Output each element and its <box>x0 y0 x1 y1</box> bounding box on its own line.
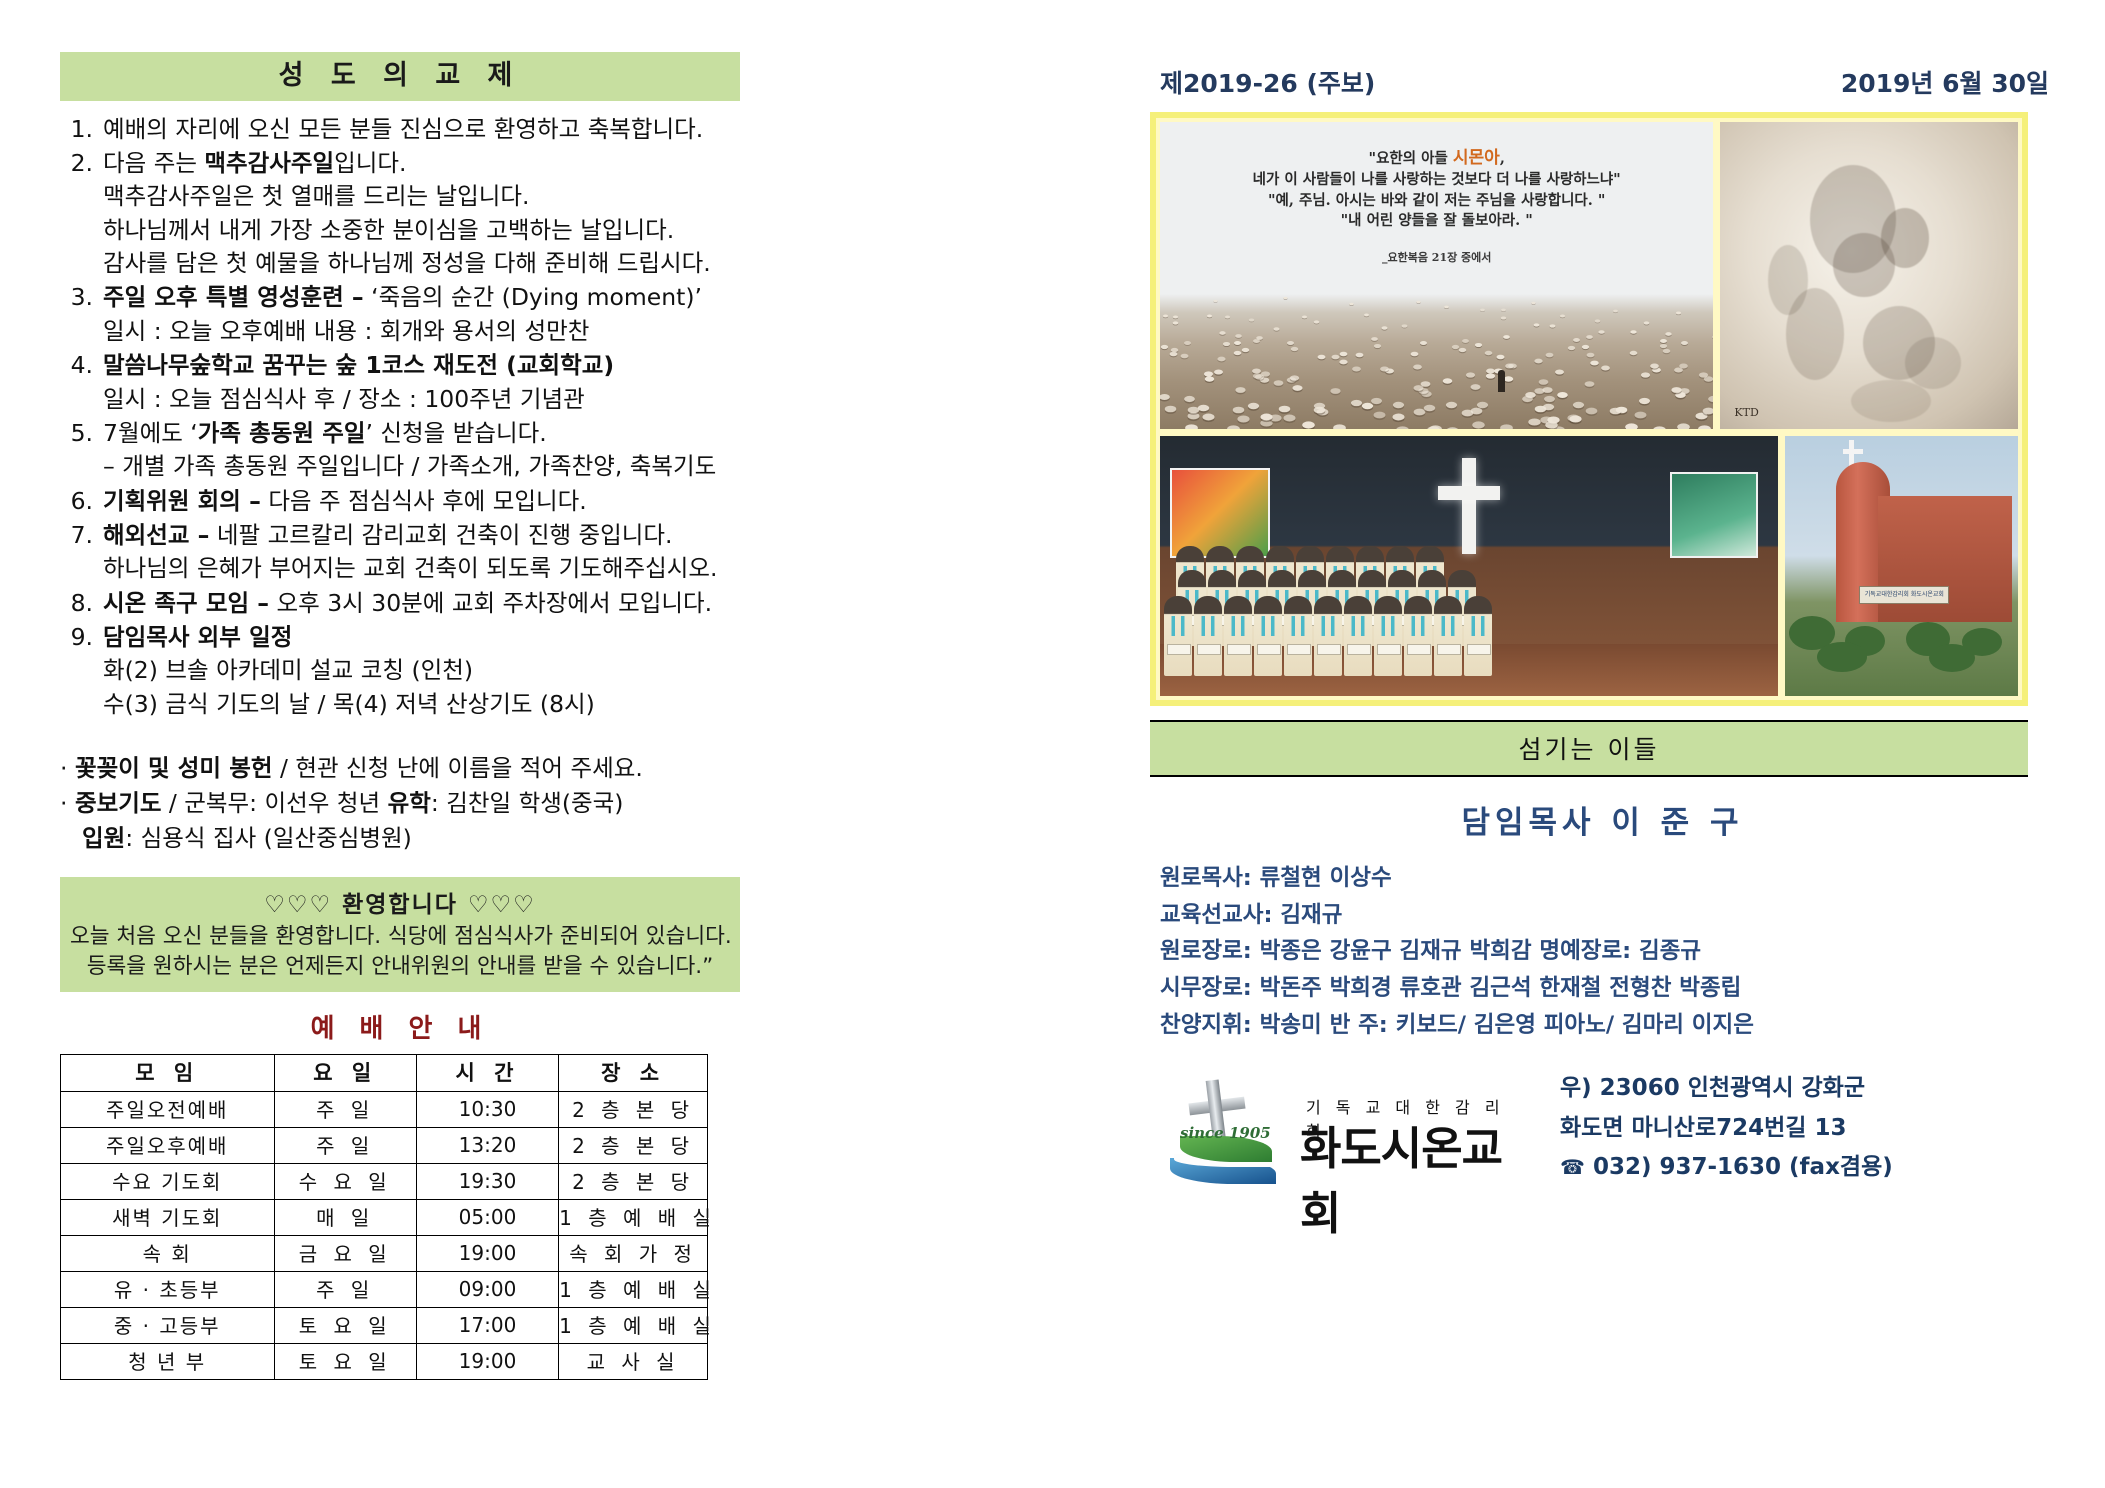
bush-shape <box>1817 642 1867 672</box>
sheep-shape <box>1213 299 1217 301</box>
announcement-main-line: 2.다음 주는 맥추감사주일입니다. <box>60 147 740 180</box>
sheep-shape <box>1235 334 1242 338</box>
sheep-shape <box>1188 406 1200 413</box>
sheep-shape <box>1249 318 1254 321</box>
right-page: 제2019-26 (주보) 2019년 6월 30일 "요한의 아들 시몬아, … <box>1150 52 2055 1192</box>
sheep-shape <box>1160 345 1167 349</box>
choir-robe-stole <box>1344 616 1372 636</box>
staff-names: 박종은 강윤구 김재규 박희감 명예장로: 김종규 <box>1260 938 1701 964</box>
sheep-shape <box>1643 321 1649 324</box>
sheep-shape <box>1317 354 1325 359</box>
sheep-shape <box>1550 325 1556 328</box>
table-column-header: 시 간 <box>416 1054 558 1091</box>
sheep-shape <box>1413 365 1422 370</box>
sheep-shape <box>1484 351 1492 355</box>
announcement-text-emphasis: 시온 족구 모임 – <box>103 589 269 617</box>
sheep-shape <box>1595 320 1601 323</box>
choir-photo <box>1160 436 1778 696</box>
announcement-text: 7월에도 ‘가족 총동원 주일’ 신청을 받습니다. <box>103 417 740 450</box>
announcement-sub-line: 수(3) 금식 기도의 날 / 목(4) 저녁 산상기도 (8시) <box>60 688 740 721</box>
sheep-shape <box>1181 354 1189 359</box>
choir-member <box>1164 596 1192 676</box>
sheep-shape <box>1653 426 1666 429</box>
sheep-shape <box>1590 361 1598 366</box>
sheep-shape <box>1198 405 1209 412</box>
staff-row: 원로장로: 박종은 강윤구 김재규 박희감 명예장로: 김종규 <box>1160 933 2055 970</box>
choir-robe-stole <box>1254 616 1282 636</box>
prayer-line-offering: · 꽃꽂이 및 성미 봉헌 / 현관 신청 난에 이름을 적어 주세요. <box>60 751 740 785</box>
hospital-detail: : 심용식 집사 (일산중심병원) <box>125 824 411 852</box>
choir-member <box>1224 596 1252 676</box>
choir-robe-stole <box>1434 616 1462 636</box>
sheep-shape <box>1424 405 1435 412</box>
announcement-sub-line: 일시 : 오늘 오후예배 내용 : 회개와 용서의 성만찬 <box>60 315 740 348</box>
verse-photo-sheep-flock: "요한의 아들 시몬아, 네가 이 사람들이 나를 사랑하는 것보다 더 나를 … <box>1160 122 1713 429</box>
cross-icon-vertical <box>1462 458 1476 554</box>
sheep-shape <box>1625 423 1638 429</box>
sheep-shape <box>1446 402 1457 408</box>
welcome-title: ♡♡♡ 환영합니다 ♡♡♡ <box>70 885 730 919</box>
sheep-shape <box>1402 325 1408 328</box>
table-row: 중 · 고등부토 요 일17:001 층 예 배 실 <box>61 1307 708 1343</box>
sheep-shape <box>1601 365 1610 370</box>
sheep-shape <box>1207 315 1212 318</box>
sheep-shape <box>1314 406 1325 413</box>
announcement-number: 9. <box>60 621 103 654</box>
announcement-number: 5. <box>60 417 103 450</box>
table-column-header: 장 소 <box>559 1054 708 1091</box>
meeting-name: 속 회 <box>61 1235 275 1271</box>
announcement-item: 3.주일 오후 특별 영성훈련 – ‘죽음의 순간 (Dying moment)… <box>60 281 740 348</box>
meeting-day: 금 요 일 <box>274 1235 416 1271</box>
sheep-shape <box>1234 350 1242 354</box>
announcement-text: 다음 주는 맥추감사주일입니다. <box>103 147 740 180</box>
meeting-day: 주 일 <box>274 1091 416 1127</box>
announcement-text-emphasis: 가족 총동원 주일 <box>198 419 366 447</box>
sheep-shape <box>1501 317 1506 320</box>
staff-row: 원로목사: 류철현 이상수 <box>1160 860 2055 897</box>
sheep-shape <box>1462 339 1469 343</box>
choir-robe-stole <box>1224 616 1252 636</box>
sheep-shape <box>1223 342 1230 346</box>
sheep-shape <box>1459 348 1466 352</box>
sketch-stroke <box>1833 233 1895 297</box>
welcome-box: ♡♡♡ 환영합니다 ♡♡♡ 오늘 처음 오신 분들을 환영합니다. 식당에 점심… <box>60 877 740 991</box>
table-row: 주일오후예배주 일13:202 층 본 당 <box>61 1127 708 1163</box>
sheep-shape <box>1287 341 1294 345</box>
meeting-name: 새벽 기도회 <box>61 1199 275 1235</box>
photo-row-top: "요한의 아들 시몬아, 네가 이 사람들이 나를 사랑하는 것보다 더 나를 … <box>1160 122 2018 429</box>
offering-label: 꽃꽂이 및 성미 봉헌 <box>75 754 273 782</box>
announcement-text: 예배의 자리에 오신 모든 분들 진심으로 환영하고 축복합니다. <box>103 113 740 146</box>
sketch-stroke <box>1768 245 1808 315</box>
announcement-sub-line: 하나님께서 내게 가장 소중한 분이심을 고백하는 날입니다. <box>60 214 740 247</box>
meeting-time: 19:30 <box>416 1163 558 1199</box>
sheep-shape <box>1535 405 1546 412</box>
sheep-shape <box>1635 412 1647 419</box>
sheep-shape <box>1545 421 1558 428</box>
meeting-day: 수 요 일 <box>274 1163 416 1199</box>
sheep-shape <box>1416 301 1420 303</box>
address-line-2: 화도면 마니산로724번길 13 <box>1560 1109 1893 1149</box>
phone-icon: ☎ <box>1560 1150 1585 1184</box>
sheep-shape <box>1712 335 1713 339</box>
sheep-shape <box>1568 345 1575 349</box>
bush-shape <box>1929 644 1975 672</box>
choir-robe-stole <box>1284 616 1312 636</box>
announcement-item: 8.시온 족구 모임 – 오후 3시 30분에 교회 주차장에서 모입니다. <box>60 587 740 620</box>
sheep-shape <box>1253 339 1260 343</box>
sketch-photo-shepherd-with-lamb: KTD <box>1720 122 2018 429</box>
sheep-shape <box>1698 426 1711 429</box>
sheep-shape <box>1225 315 1230 318</box>
sheep-shape <box>1236 387 1246 393</box>
sheep-shape <box>1413 409 1425 416</box>
sheep-shape <box>1486 373 1495 378</box>
verse-line-3: "예, 주님. 아시는 바와 같이 저는 주님을 사랑합니다. " <box>1160 191 1713 212</box>
intercession-study: : 김찬일 학생(중국) <box>431 789 624 817</box>
sheep-shape <box>1284 414 1296 421</box>
meeting-place: 2 층 본 당 <box>559 1163 708 1199</box>
sheep-shape <box>1466 372 1475 377</box>
announcement-item: 6.기획위원 회의 – 다음 주 점심식사 후에 모입니다. <box>60 485 740 518</box>
choir-robe-stole <box>1374 616 1402 636</box>
staff-row: 교육선교사: 김재규 <box>1160 897 2055 934</box>
meeting-day: 주 일 <box>274 1271 416 1307</box>
staff-names: 박돈주 박희경 류호관 김근석 한재철 전형찬 박종립 <box>1260 975 1742 1001</box>
sheep-shape <box>1472 422 1485 429</box>
announcement-text-emphasis: 기획위원 회의 – <box>103 487 261 515</box>
announcement-text: 기획위원 회의 – 다음 주 점심식사 후에 모입니다. <box>103 485 740 518</box>
sheep-shape <box>1557 392 1568 398</box>
announcement-text-emphasis: 담임목사 외부 일정 <box>103 623 292 651</box>
meeting-place: 속 회 가 정 <box>559 1235 708 1271</box>
logo-since-text: since 1905 <box>1180 1124 1271 1142</box>
sheep-shape <box>1639 397 1650 403</box>
table-header-row: 모 임요 일시 간장 소 <box>61 1054 708 1091</box>
meeting-time: 17:00 <box>416 1307 558 1343</box>
verse-line-4: "내 어린 양들을 잘 돌보아라. " <box>1160 211 1713 232</box>
staff-names: 박송미 반 주: 키보드/ 김은영 피아노/ 김마리 이지은 <box>1260 1012 1754 1038</box>
sheep-shape <box>1349 303 1353 306</box>
welcome-line-2: 등록을 원하시는 분은 언제든지 안내위원의 안내를 받을 수 있습니다.” <box>70 952 730 981</box>
announcement-item: 5.7월에도 ‘가족 총동원 주일’ 신청을 받습니다.– 개별 가족 총동원 … <box>60 417 740 484</box>
sheep-shape <box>1302 422 1315 429</box>
verse-line-2: 네가 이 사람들이 나를 사랑하는 것보다 더 나를 사랑하느냐" <box>1160 170 1713 191</box>
sheep-shape <box>1475 343 1482 347</box>
sheep-shape <box>1333 424 1346 429</box>
sheep-shape <box>1545 353 1553 357</box>
sheep-shape <box>1586 335 1593 339</box>
meeting-place: 2 층 본 당 <box>559 1091 708 1127</box>
announcement-text-tail: 다음 주 점심식사 후에 모입니다. <box>261 487 587 515</box>
sheep-shape <box>1497 355 1505 360</box>
church-address: 우) 23060 인천광역시 강화군 화도면 마니산로724번길 13 ☎ 03… <box>1534 1069 1893 1192</box>
meeting-time: 19:00 <box>416 1235 558 1271</box>
sheep-shape <box>1248 403 1259 409</box>
worship-schedule-table: 모 임요 일시 간장 소 주일오전예배주 일10:302 층 본 당주일오후예배… <box>60 1054 708 1380</box>
staff-role: 찬양지휘: <box>1160 1012 1260 1038</box>
announcement-text-emphasis: 해외선교 – <box>103 521 209 549</box>
sheep-shape <box>1462 409 1474 416</box>
sheep-shape <box>1364 314 1369 317</box>
verse-highlight-simon: 시몬아 <box>1453 148 1500 168</box>
meeting-name: 주일오전예배 <box>61 1091 275 1127</box>
shepherd-figure <box>1498 370 1505 392</box>
verse-line-1: "요한의 아들 시몬아, <box>1160 146 1713 170</box>
sheep-shape <box>1477 401 1488 407</box>
cross-icon-horizontal <box>1438 486 1500 500</box>
sheep-shape <box>1187 412 1199 419</box>
intercession-military: / 군복무: 이선우 청년 <box>161 789 387 817</box>
sheep-shape <box>1290 347 1297 351</box>
meeting-place: 1 층 예 배 실 <box>559 1271 708 1307</box>
sheep-shape <box>1373 412 1385 419</box>
announcement-text: 주일 오후 특별 영성훈련 – ‘죽음의 순간 (Dying moment)’ <box>103 281 740 314</box>
prayer-requests-block: · 꽃꽂이 및 성미 봉헌 / 현관 신청 난에 이름을 적어 주세요. · 중… <box>60 751 740 855</box>
sheep-shape <box>1681 341 1688 345</box>
sheep-shape <box>1219 332 1225 336</box>
sheep-shape <box>1480 308 1485 311</box>
sheep-shape <box>1374 344 1381 348</box>
announcement-text: 담임목사 외부 일정 <box>103 621 740 654</box>
sheep-shape <box>1163 315 1168 318</box>
sheep-shape <box>1164 406 1175 413</box>
verse-line-1a: "요한의 아들 <box>1369 150 1453 167</box>
issue-date: 2019년 6월 30일 <box>1841 64 2049 100</box>
sheep-shape <box>1677 423 1690 429</box>
sheep-shape <box>1610 407 1622 414</box>
fellowship-section-banner: 성 도 의 교 제 <box>60 52 740 101</box>
meeting-day: 주 일 <box>274 1127 416 1163</box>
meeting-time: 05:00 <box>416 1199 558 1235</box>
sketch-stroke <box>1905 337 1961 389</box>
sheep-shape <box>1660 339 1667 343</box>
sheep-shape <box>1534 323 1540 326</box>
sheep-shape <box>1371 398 1382 404</box>
sheep-shape <box>1279 406 1290 413</box>
steeple-cross-horizontal <box>1843 449 1863 454</box>
announcement-text-tail: ’ 신청을 받습니다. <box>365 419 546 447</box>
sheep-shape <box>1470 384 1480 390</box>
sheep-shape <box>1629 351 1637 355</box>
announcement-number: 7. <box>60 519 103 552</box>
meeting-name: 수요 기도회 <box>61 1163 275 1199</box>
sheep-shape <box>1392 414 1404 421</box>
sheep-shape <box>1393 402 1404 408</box>
sheep-shape <box>1420 341 1427 345</box>
table-row: 주일오전예배주 일10:302 층 본 당 <box>61 1091 708 1127</box>
announcement-main-line: 3.주일 오후 특별 영성훈련 – ‘죽음의 순간 (Dying moment)… <box>60 281 740 314</box>
sheep-shape <box>1313 321 1319 324</box>
announcement-sub-line: 일시 : 오늘 점심식사 후 / 장소 : 100주년 기념관 <box>60 383 740 416</box>
sheep-shape <box>1283 297 1287 299</box>
verse-reference: _요한복음 21장 중에서 <box>1160 250 1713 266</box>
announcement-item: 4.말씀나무숲학교 꿈꾸는 숲 1코스 재도전 (교회학교)일시 : 오늘 점심… <box>60 349 740 416</box>
sheep-shape <box>1560 315 1565 318</box>
choir-banner-right <box>1670 472 1758 558</box>
sheep-shape <box>1544 396 1555 402</box>
sheep-shape <box>1355 353 1363 357</box>
announcement-main-line: 8.시온 족구 모임 – 오후 3시 30분에 교회 주차장에서 모입니다. <box>60 587 740 620</box>
sheep-shape <box>1598 331 1604 335</box>
announcement-main-line: 4.말씀나무숲학교 꿈꾸는 숲 1코스 재도전 (교회학교) <box>60 349 740 382</box>
church-building-photo: 기독교대한감리회 화도시온교회 <box>1785 436 2018 696</box>
sheep-shape <box>1203 414 1215 421</box>
serving-members-banner: 섬기는 이들 <box>1150 720 2028 777</box>
left-page: 성 도 의 교 제 1.예배의 자리에 오신 모든 분들 진심으로 환영하고 축… <box>60 52 740 1380</box>
meeting-day: 매 일 <box>274 1199 416 1235</box>
footer: since 1905 기 독 교 대 한 감 리 회 화도시온교회 우) 230… <box>1150 1069 2055 1192</box>
sheep-shape <box>1587 353 1595 357</box>
announcement-text-tail: ‘죽음의 순간 (Dying moment)’ <box>364 283 702 311</box>
choir-member <box>1434 596 1462 676</box>
meeting-name: 청 년 부 <box>61 1343 275 1379</box>
sheep-shape <box>1703 408 1714 415</box>
announcement-item: 1.예배의 자리에 오신 모든 분들 진심으로 환영하고 축복합니다. <box>60 113 740 146</box>
sheep-shape <box>1381 326 1387 329</box>
announcement-sub-line: 화(2) 브솔 아카데미 설교 코칭 (인천) <box>60 654 740 687</box>
table-row: 유 · 초등부주 일09:001 층 예 배 실 <box>61 1271 708 1307</box>
meeting-name: 유 · 초등부 <box>61 1271 275 1307</box>
senior-pastor-name: 담임목사 이 준 구 <box>1150 797 2055 842</box>
sheep-shape <box>1242 347 1249 351</box>
staff-role: 교육선교사: <box>1160 902 1280 928</box>
announcement-text-plain: 7월에도 ‘ <box>103 419 198 447</box>
choir-member <box>1254 596 1282 676</box>
table-row: 수요 기도회수 요 일19:302 층 본 당 <box>61 1163 708 1199</box>
announcement-item: 9.담임목사 외부 일정화(2) 브솔 아카데미 설교 코칭 (인천)수(3) … <box>60 621 740 721</box>
church-logo: since 1905 기 독 교 대 한 감 리 회 화도시온교회 <box>1154 1076 1534 1186</box>
sheep-shape <box>1630 331 1636 335</box>
sheep-shape <box>1532 301 1536 303</box>
sheep-shape <box>1452 345 1459 349</box>
sheep-shape <box>1302 315 1307 318</box>
choir-robe-stole <box>1164 616 1192 636</box>
sheep-shape <box>1708 396 1713 402</box>
sheep-shape <box>1582 345 1589 349</box>
announcement-number: 2. <box>60 147 103 180</box>
choir-robe-stole <box>1464 616 1492 636</box>
logo-mark: since 1905 <box>1162 1078 1278 1182</box>
meeting-time: 09:00 <box>416 1271 558 1307</box>
meeting-name: 주일오후예배 <box>61 1127 275 1163</box>
staff-role: 원로목사: <box>1160 865 1260 891</box>
staff-role: 원로장로: <box>1160 938 1260 964</box>
announcement-number: 6. <box>60 485 103 518</box>
bullet-icon: · <box>60 754 67 782</box>
offering-detail: / 현관 신청 난에 이름을 적어 주세요. <box>272 754 642 782</box>
address-line-3: ☎ 032) 937-1630 (fax겸용) <box>1560 1148 1893 1188</box>
meeting-place: 2 층 본 당 <box>559 1127 708 1163</box>
announcement-main-line: 5.7월에도 ‘가족 총동원 주일’ 신청을 받습니다. <box>60 417 740 450</box>
intercession-study-label: 유학 <box>388 789 431 817</box>
sheep-shape <box>1185 425 1198 429</box>
sheep-shape <box>1504 376 1513 381</box>
sheep-shape <box>1184 341 1191 345</box>
sheep-shape <box>1411 352 1419 356</box>
sheep-shape <box>1427 426 1440 429</box>
announcement-sub-line: 하나님의 은혜가 부어지는 교회 건축이 되도록 기도해주십시오. <box>60 552 740 585</box>
sheep-shape <box>1446 427 1459 429</box>
announcement-text-tail: 입니다. <box>334 149 406 177</box>
announcement-list: 1.예배의 자리에 오신 모든 분들 진심으로 환영하고 축복합니다.2.다음 … <box>60 101 740 721</box>
prayer-line-intercession: · 중보기도 / 군복무: 이선우 청년 유학: 김찬일 학생(중국) <box>60 786 740 820</box>
sheep-shape <box>1351 400 1362 406</box>
sheep-shape <box>1331 355 1339 360</box>
announcement-sub-line: 감사를 담은 첫 예물을 하나님께 정성을 다해 준비해 드립시다. <box>60 247 740 280</box>
sheep-shape <box>1534 359 1542 364</box>
sheep-shape <box>1172 322 1178 325</box>
sheep-flock-illustration <box>1160 294 1713 429</box>
choir-robe-stole <box>1194 616 1222 636</box>
sheep-shape <box>1232 406 1243 413</box>
sheep-shape <box>1274 381 1284 387</box>
sheep-shape <box>1340 359 1348 364</box>
announcement-main-line: 1.예배의 자리에 오신 모든 분들 진심으로 환영하고 축복합니다. <box>60 113 740 146</box>
sheep-shape <box>1372 337 1379 341</box>
verse-line-1b: , <box>1500 150 1505 167</box>
announcement-item: 7.해외선교 – 네팔 고르칼리 감리교회 건축이 진행 중입니다.하나님의 은… <box>60 519 740 586</box>
sheep-shape <box>1503 335 1510 339</box>
sheep-shape <box>1205 376 1214 381</box>
announcement-number: 4. <box>60 349 103 382</box>
choir-robe-stole <box>1404 616 1432 636</box>
staff-row: 찬양지휘: 박송미 반 주: 키보드/ 김은영 피아노/ 김마리 이지은 <box>1160 1007 2055 1044</box>
sheep-shape <box>1160 394 1169 400</box>
choir-robe-stole <box>1314 616 1342 636</box>
sheep-shape <box>1380 366 1389 371</box>
staff-row: 시무장로: 박돈주 박희경 류호관 김근석 한재철 전형찬 박종립 <box>1160 970 2055 1007</box>
meeting-time: 13:20 <box>416 1127 558 1163</box>
meeting-place: 1 층 예 배 실 <box>559 1307 708 1343</box>
meeting-time: 10:30 <box>416 1091 558 1127</box>
sheep-shape <box>1414 385 1424 391</box>
announcement-text-tail: 네팔 고르칼리 감리교회 건축이 진행 중입니다. <box>209 521 672 549</box>
meeting-place: 교 사 실 <box>559 1343 708 1379</box>
sheep-shape <box>1569 416 1581 423</box>
sheep-shape <box>1396 426 1409 429</box>
sheep-shape <box>1535 388 1545 394</box>
sheep-shape <box>1663 349 1671 353</box>
announcement-text-plain: 다음 주는 <box>103 149 204 177</box>
verse-text: "요한의 아들 시몬아, 네가 이 사람들이 나를 사랑하는 것보다 더 나를 … <box>1160 122 1713 265</box>
staff-names: 김재규 <box>1280 902 1342 928</box>
sheep-shape <box>1573 338 1580 342</box>
sheep-shape <box>1501 308 1506 311</box>
announcement-number: 1. <box>60 113 103 146</box>
sheep-shape <box>1585 408 1597 415</box>
schedule-title: 예 배 안 내 <box>60 1008 740 1045</box>
sheep-shape <box>1528 419 1540 426</box>
staff-role: 시무장로: <box>1160 975 1260 1001</box>
sheep-shape <box>1227 425 1240 429</box>
meeting-place: 1 층 예 배 실 <box>559 1199 708 1235</box>
table-column-header: 모 임 <box>61 1054 275 1091</box>
choir-member <box>1344 596 1372 676</box>
church-signboard: 기독교대한감리회 화도시온교회 <box>1859 586 1949 604</box>
announcement-number: 8. <box>60 587 103 620</box>
sheep-shape <box>1289 375 1298 380</box>
sheep-shape <box>1214 369 1223 374</box>
choir-member <box>1284 596 1312 676</box>
announcement-text-emphasis: 말씀나무숲학교 꿈꾸는 숲 1코스 재도전 (교회학교) <box>103 351 614 379</box>
sheep-shape <box>1237 415 1249 422</box>
sheep-shape <box>1339 352 1347 356</box>
sheep-shape <box>1184 395 1195 401</box>
address-line-1: 우) 23060 인천광역시 강화군 <box>1560 1069 1893 1109</box>
choir-member <box>1404 596 1432 676</box>
